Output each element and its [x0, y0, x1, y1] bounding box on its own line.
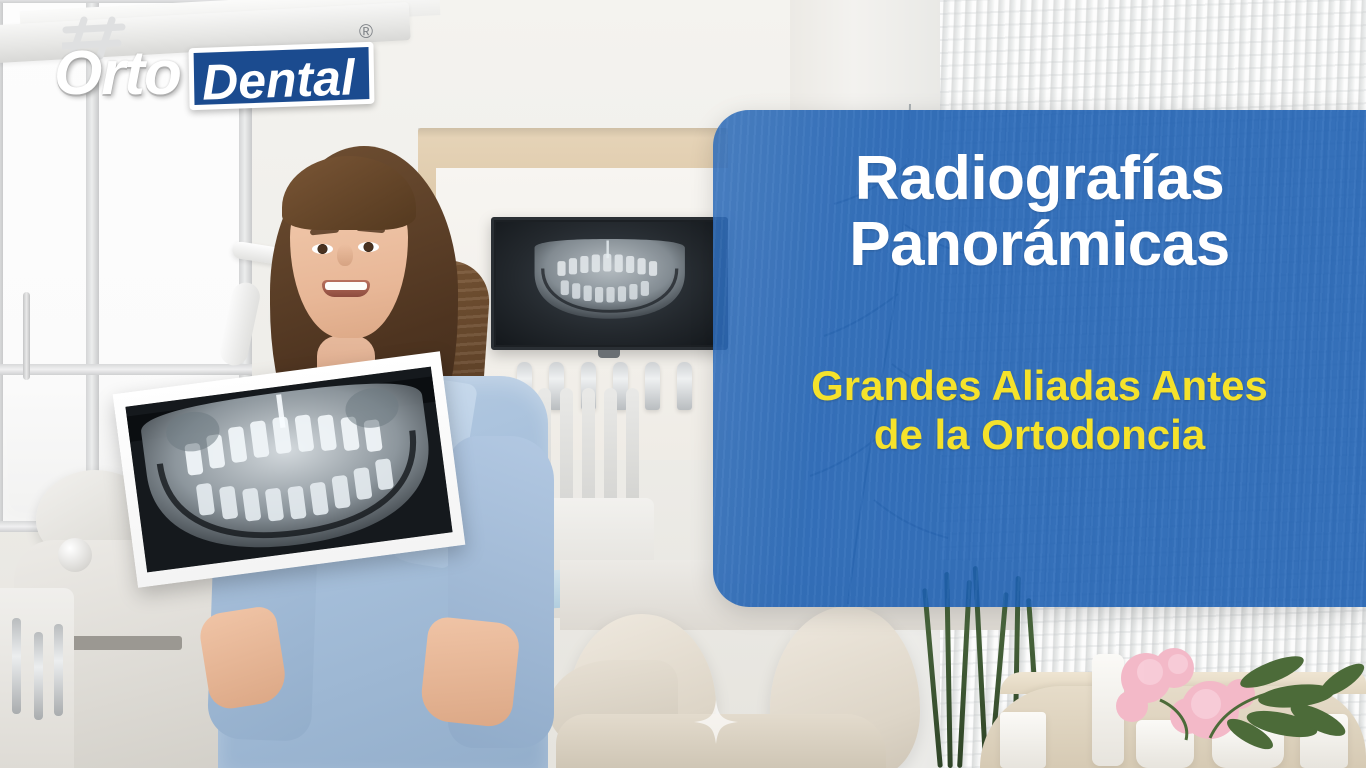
dentist-figure: [212, 140, 552, 768]
panel-title-line-2: Panorámicas: [743, 212, 1336, 278]
xray-image: [125, 367, 452, 573]
panel-subtitle: Grandes Aliadas Antes de la Ortodoncia: [743, 361, 1336, 460]
window-handle: [23, 292, 30, 380]
panel-subtitle-line-1: Grandes Aliadas Antes: [743, 361, 1336, 411]
panel-title: Radiografías Panorámicas: [743, 146, 1336, 279]
monitor-stand: [598, 350, 620, 358]
hand-right: [419, 615, 521, 728]
logo-text-dental: Dental: [201, 48, 356, 111]
logo-text-orto: Orto: [54, 38, 181, 109]
sparkle-icon: [694, 700, 738, 744]
dental-chair-strip: [70, 636, 182, 650]
panel-subtitle-line-2: de la Ortodoncia: [743, 410, 1336, 460]
panel-title-line-1: Radiografías: [743, 146, 1336, 212]
dental-chair-knob: [58, 538, 92, 572]
brand-logo[interactable]: Orto Dental ®: [26, 12, 376, 112]
smile: [322, 280, 370, 297]
banner-root: Orto Dental ® Radiografías Panorámicas G…: [0, 0, 1366, 768]
monitor-panoramic-xray-image: [528, 239, 691, 320]
registered-trademark-icon: ®: [359, 22, 373, 44]
hand-left: [197, 604, 289, 711]
nose: [337, 244, 353, 266]
vase-left: [1000, 712, 1046, 768]
flower-arrangement: [1090, 620, 1366, 768]
tool-tray: [0, 588, 74, 768]
headline-panel: Radiografías Panorámicas Grandes Aliadas…: [713, 110, 1366, 607]
